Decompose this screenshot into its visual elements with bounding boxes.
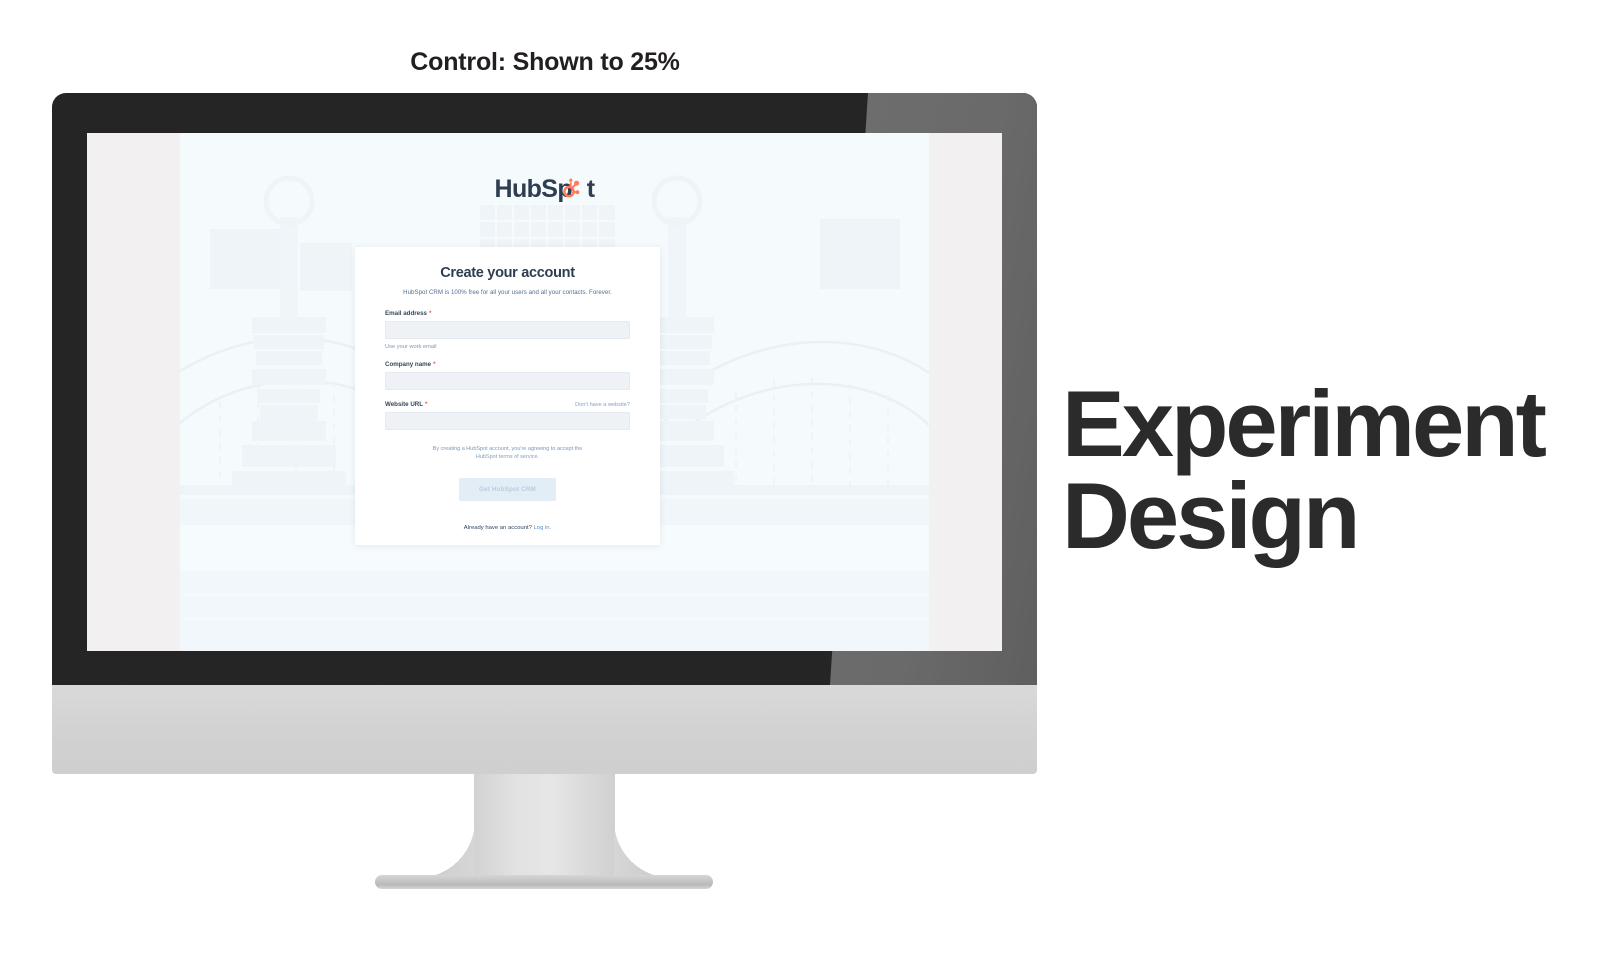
email-helper-text: Use your work email (385, 344, 630, 350)
log-in-link[interactable]: Log in. (534, 525, 552, 531)
terms-prefix: By creating a HubSpot account, you're ag… (433, 446, 583, 452)
email-label-text: Email address (385, 310, 427, 317)
monitor-screen: HubSpot Create your account (87, 133, 1002, 651)
terms-of-service-link[interactable]: HubSpot terms of service. (476, 454, 539, 460)
website-label-text: Website URL (385, 401, 423, 408)
hubspot-wordmark: HubSpot (495, 175, 595, 204)
company-input[interactable] (385, 372, 630, 390)
page-title-line-1: Experiment (1062, 378, 1582, 470)
email-field-label: Email address* (385, 310, 630, 317)
website-input[interactable] (385, 412, 630, 430)
experiment-caption: Control: Shown to 25% (0, 48, 1090, 77)
website-required-marker: * (425, 401, 427, 408)
hubspot-logo: HubSpot (87, 175, 1002, 204)
company-required-marker: * (433, 361, 435, 368)
monitor-stand-neck (474, 774, 615, 882)
signup-card: Create your account HubSpot CRM is 100% … (355, 247, 660, 545)
hubspot-wordmark-text-end: t (587, 175, 595, 203)
submit-row: Get HubSpot CRM (385, 478, 630, 501)
field-spacer (385, 390, 630, 401)
email-input[interactable] (385, 321, 630, 339)
page-title: Experiment Design (1062, 378, 1582, 562)
card-title: Create your account (385, 265, 630, 281)
login-row: Already have an account? Log in. (385, 525, 630, 531)
hubspot-sprocket-icon (558, 177, 582, 208)
page-title-line-2: Design (1062, 470, 1582, 562)
monitor-mockup: HubSpot Create your account (52, 93, 1037, 783)
no-website-link[interactable]: Don't have a website? (575, 402, 630, 408)
monitor-chin (52, 685, 1037, 774)
login-prompt-text: Already have an account? (464, 525, 532, 531)
terms-text: By creating a HubSpot account, you're ag… (385, 445, 630, 462)
monitor-stand-base (375, 875, 713, 889)
page-right-margin (929, 133, 1002, 651)
card-subtitle: HubSpot CRM is 100% free for all your us… (385, 289, 630, 296)
get-hubspot-crm-button[interactable]: Get HubSpot CRM (459, 478, 556, 501)
company-label-text: Company name (385, 361, 431, 368)
company-field-label: Company name* (385, 361, 630, 368)
email-required-marker: * (429, 310, 431, 317)
website-field-label: Website URL* Don't have a website? (385, 401, 630, 408)
page-left-margin (87, 133, 180, 651)
